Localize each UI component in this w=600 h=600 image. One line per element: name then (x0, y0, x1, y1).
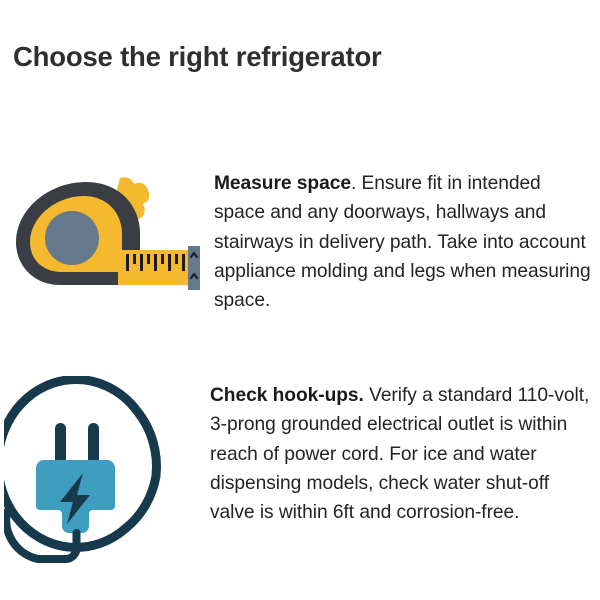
check-hook-ups-paragraph: Check hook-ups. Verify a standard 110-vo… (210, 381, 592, 527)
tape-measure-icon-cell (0, 150, 214, 297)
electrical-plug-icon-cell (0, 362, 210, 566)
section-measure-space: Measure space. Ensure fit in intended sp… (0, 150, 600, 334)
electrical-plug-icon (4, 376, 184, 566)
check-hook-ups-text-cell: Check hook-ups. Verify a standard 110-vo… (210, 362, 600, 546)
check-hook-ups-lead: Check hook-ups. (210, 385, 364, 406)
tape-measure-icon (8, 172, 200, 297)
measure-space-separator: . (351, 173, 362, 194)
measure-space-text-cell: Measure space. Ensure fit in intended sp… (214, 150, 600, 334)
page-title: Choose the right refrigerator (13, 40, 382, 73)
measure-space-lead: Measure space (214, 173, 351, 194)
section-check-hook-ups: Check hook-ups. Verify a standard 110-vo… (0, 362, 600, 566)
infographic-page: Choose the right refrigerator (0, 0, 600, 600)
measure-space-paragraph: Measure space. Ensure fit in intended sp… (214, 169, 592, 315)
